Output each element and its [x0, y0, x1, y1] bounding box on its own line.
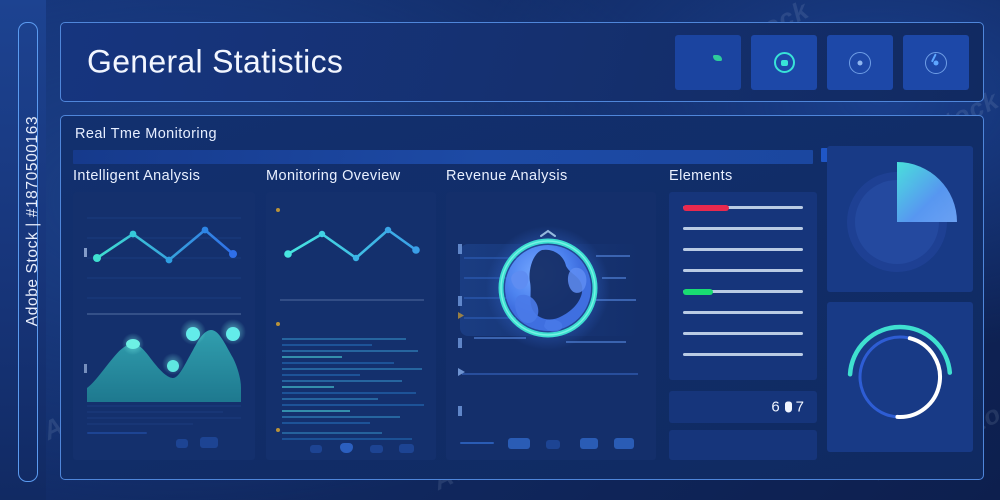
chip: [614, 438, 634, 449]
progress-bar-row[interactable]: [683, 227, 803, 230]
section-label-real-time-monitoring: Real Tme Monitoring: [75, 126, 217, 142]
panel-progress-ring-gauge[interactable]: [827, 302, 973, 452]
value-separator-icon: [785, 402, 792, 413]
ring-dot-icon: [774, 52, 795, 73]
header-action-group: [675, 35, 969, 90]
record-button[interactable]: [751, 35, 817, 90]
chip: [580, 438, 598, 449]
progress-bar-row[interactable]: [683, 311, 803, 314]
chip: [176, 439, 188, 448]
progress-ring-chart: [827, 302, 973, 452]
column-title-elements: Elements: [669, 168, 733, 184]
progress-bar-row[interactable]: [683, 248, 803, 251]
value-readout-right: 7: [796, 399, 805, 416]
divider-bar-left: [73, 150, 813, 164]
progress-bar-row[interactable]: [683, 290, 803, 293]
progress-bar-fill-green: [683, 289, 713, 295]
speedometer-button[interactable]: [903, 35, 969, 90]
column-title-monitoring-overview: Monitoring Oveview: [266, 168, 401, 184]
chip: [200, 437, 218, 448]
speedometer-icon: [925, 52, 947, 74]
adobe-stock-watermark-rail: Adobe Stock | #1870500163: [0, 0, 46, 500]
panel-revenue-share-pie[interactable]: [827, 146, 973, 292]
gauge-button[interactable]: [827, 35, 893, 90]
progress-bar-row[interactable]: [683, 353, 803, 356]
gauge-icon: [849, 52, 871, 74]
monitoring-overview-charts: [266, 192, 436, 460]
chip-line: [87, 432, 147, 434]
column-title-revenue-analysis: Revenue Analysis: [446, 168, 568, 184]
panel-monitoring-overview[interactable]: [266, 192, 436, 460]
chip: [310, 445, 322, 453]
progress-bar-row[interactable]: [683, 206, 803, 209]
chip: [399, 444, 414, 453]
progress-bar-row[interactable]: [683, 332, 803, 335]
chip: [546, 440, 560, 449]
panel-elements-progress[interactable]: [669, 192, 817, 380]
revenue-share-pie-chart: [827, 146, 973, 292]
chip: [370, 445, 383, 453]
status-indicator-button[interactable]: [675, 35, 741, 90]
panel-value-readout[interactable]: 6 7: [669, 391, 817, 423]
panel-footer-strip[interactable]: [669, 430, 817, 460]
column-title-intelligent-analysis: Intelligent Analysis: [73, 168, 200, 184]
dashboard-header: General Statistics: [60, 22, 984, 102]
progress-bar-list: [683, 206, 803, 374]
value-readout: 6 7: [771, 399, 805, 416]
progress-bar-fill-red: [683, 205, 729, 211]
page-title: General Statistics: [87, 44, 343, 81]
progress-bar-row[interactable]: [683, 269, 803, 272]
dashboard-canvas: Adobe Stock Adobe Stock Adobe Stock Adob…: [46, 0, 1000, 500]
chip: [508, 438, 530, 449]
watermark-id-text: Adobe Stock | #1870500163: [24, 31, 42, 411]
globe-visualization: [446, 192, 656, 460]
green-blip-icon: [713, 55, 722, 61]
chip-line: [460, 442, 494, 444]
panel-revenue-analysis-globe[interactable]: [446, 192, 656, 460]
intelligent-analysis-charts: [73, 192, 255, 460]
main-content-frame: Real Tme Monitoring Intelligent Analysis…: [60, 115, 984, 480]
value-readout-left: 6: [771, 399, 780, 416]
panel-intelligent-analysis[interactable]: [73, 192, 255, 460]
